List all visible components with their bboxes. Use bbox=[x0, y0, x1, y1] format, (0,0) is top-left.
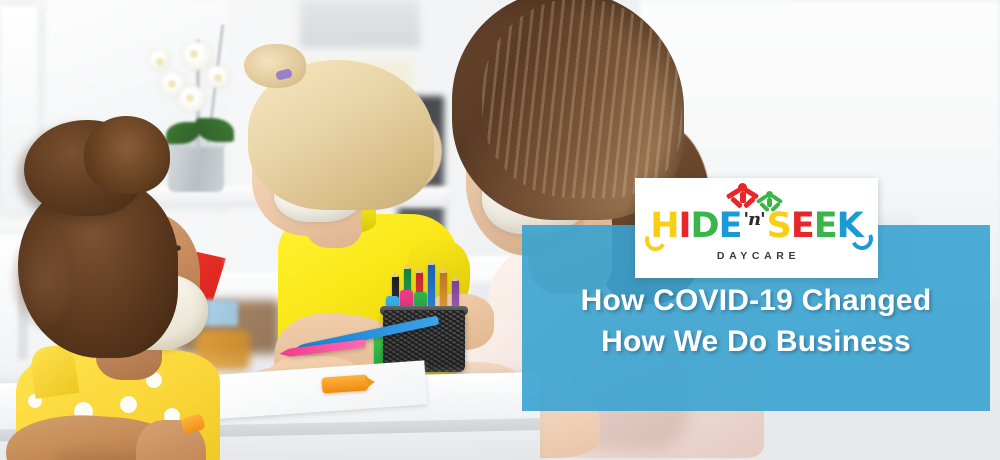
logo-letter-h: H bbox=[650, 209, 678, 243]
logo-letter-d: D bbox=[691, 209, 719, 243]
orchid-flower bbox=[206, 66, 230, 88]
headline-line-2: How We Do Business bbox=[522, 321, 990, 362]
logo-wordmark: H I D E 'n' S E E K bbox=[650, 209, 863, 243]
logo-letter-i: I bbox=[678, 209, 690, 243]
teacher-hair-strands bbox=[482, 0, 682, 198]
banner-root: How COVID-19 Changed How We Do Business bbox=[0, 0, 1000, 460]
child-curly-hair-frizz bbox=[8, 224, 70, 334]
dress-dot bbox=[120, 396, 137, 413]
logo-tagline: DAYCARE bbox=[713, 250, 800, 262]
child-curly-hair-bun-2 bbox=[84, 116, 170, 194]
headline-line-1: How COVID-19 Changed bbox=[522, 280, 990, 321]
logo-letter-e3: E bbox=[814, 209, 837, 243]
orchid-flower bbox=[182, 42, 212, 70]
logo-card[interactable]: H I D E 'n' S E E K DAYCARE bbox=[635, 178, 878, 278]
logo-letter-n: 'n' bbox=[742, 203, 767, 237]
banner-headline: How COVID-19 Changed How We Do Business bbox=[522, 280, 990, 362]
child-curly-hair bbox=[0, 120, 260, 460]
child-blonde-ponytail bbox=[244, 44, 306, 88]
logo-letter-e2: E bbox=[791, 209, 814, 243]
orchid-flower bbox=[178, 86, 206, 112]
orange-crayon bbox=[321, 374, 368, 393]
orchid-flower bbox=[148, 50, 170, 70]
logo-letter-e1: E bbox=[719, 209, 742, 243]
logo-letter-k: K bbox=[837, 209, 863, 243]
